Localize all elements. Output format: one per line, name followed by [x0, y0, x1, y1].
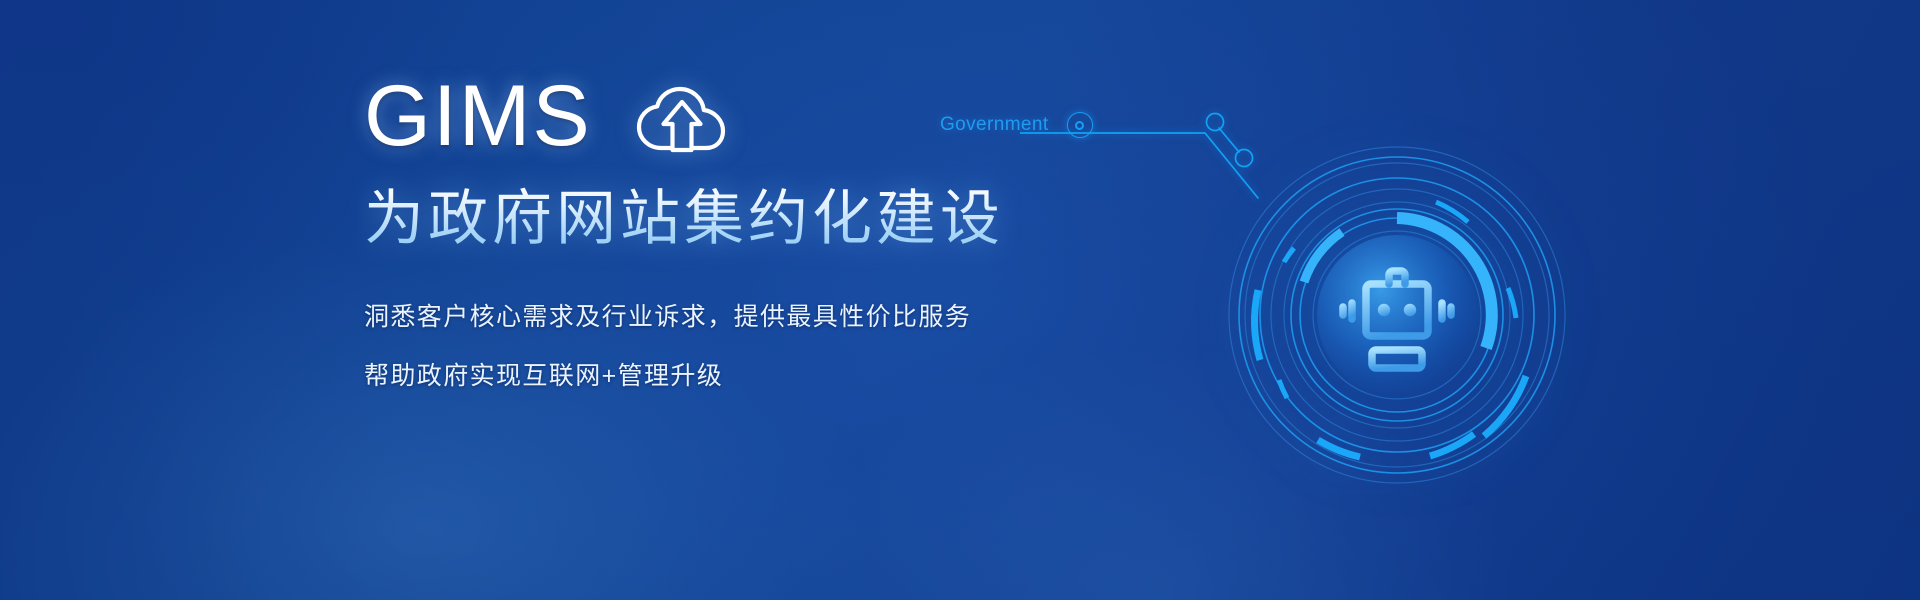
government-node: Government	[940, 112, 1093, 138]
cloud-upload-icon	[634, 84, 730, 156]
page-headline: 为政府网站集约化建设	[364, 182, 1124, 256]
subtitle-line-2: 帮助政府实现互联网+管理升级	[364, 347, 1124, 406]
government-node-label: Government	[940, 114, 1049, 136]
hero-banner: GIMS 为政府网站集约化建设 洞悉客户核心需求及行业诉求，提供最具性价比服务 …	[0, 0, 1920, 600]
circle-node-icon	[1067, 112, 1093, 138]
node-dot	[1075, 121, 1084, 130]
brand-title: GIMS	[364, 73, 592, 159]
subtitle-line-1: 洞悉客户核心需求及行业诉求，提供最具性价比服务	[364, 288, 1124, 347]
